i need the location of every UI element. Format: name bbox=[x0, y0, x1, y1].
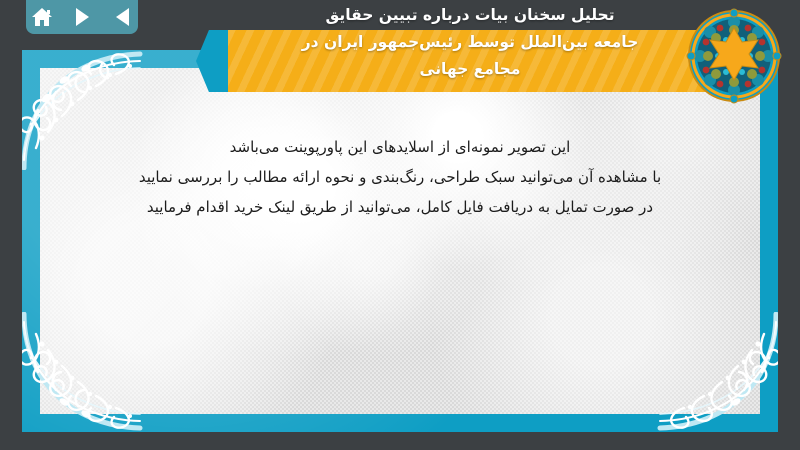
slide-content-panel bbox=[40, 68, 760, 414]
body-line-1: این تصویر نمونه‌ای از اسلایدهای این پاور… bbox=[60, 132, 740, 162]
home-button[interactable] bbox=[29, 5, 55, 29]
home-icon bbox=[31, 7, 53, 27]
triangle-left-icon bbox=[116, 8, 129, 26]
triangle-right-icon bbox=[76, 8, 89, 26]
left-dark-margin bbox=[0, 0, 22, 450]
body-line-2: با مشاهده آن می‌توانید سبک طراحی، رنگ‌بن… bbox=[60, 162, 740, 192]
next-slide-button[interactable] bbox=[69, 5, 95, 29]
presentation-slide: این تصویر نمونه‌ای از اسلایدهای این پاور… bbox=[0, 0, 800, 450]
circular-mandala-ornament-icon bbox=[686, 8, 782, 104]
body-line-3: در صورت تمایل به دریافت فایل کامل، می‌تو… bbox=[60, 192, 740, 222]
bottom-dark-bar bbox=[0, 432, 800, 450]
slide-navigation-bar bbox=[26, 0, 138, 34]
previous-slide-button[interactable] bbox=[109, 5, 135, 29]
slide-body-text: این تصویر نمونه‌ای از اسلایدهای این پاور… bbox=[60, 132, 740, 222]
